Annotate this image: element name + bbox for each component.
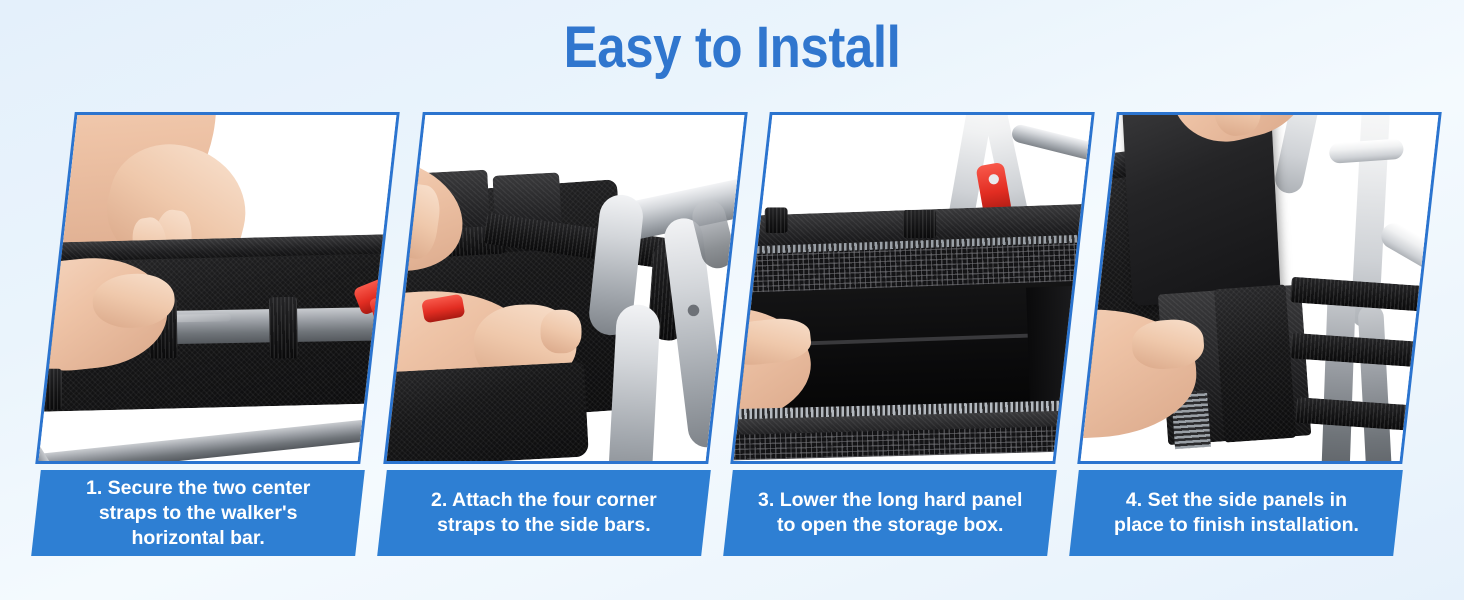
step-4-caption: 4. Set the side panels in place to finis… bbox=[1069, 470, 1403, 556]
step-1-caption: 1. Secure the two center straps to the w… bbox=[31, 470, 365, 556]
infographic-root: Easy to Install bbox=[0, 0, 1464, 600]
step-3-caption: 3. Lower the long hard panel to open the… bbox=[723, 470, 1057, 556]
step-1-photo bbox=[35, 112, 399, 464]
page-title: Easy to Install bbox=[88, 14, 1376, 81]
step-2-photo bbox=[383, 112, 747, 464]
step-4-photo bbox=[1077, 112, 1441, 464]
step-3-photo bbox=[730, 112, 1094, 464]
step-3-caption-text: 3. Lower the long hard panel to open the… bbox=[744, 488, 1036, 538]
step-2-caption-text: 2. Attach the four corner straps to the … bbox=[417, 488, 671, 538]
step-4-caption-text: 4. Set the side panels in place to finis… bbox=[1100, 488, 1373, 538]
step-1-caption-text: 1. Secure the two center straps to the w… bbox=[72, 476, 324, 550]
step-2-caption: 2. Attach the four corner straps to the … bbox=[377, 470, 711, 556]
